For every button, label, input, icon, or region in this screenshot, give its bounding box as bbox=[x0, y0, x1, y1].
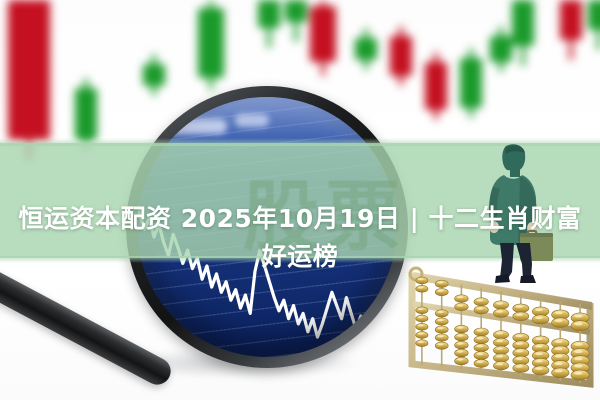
abacus-bead bbox=[493, 346, 508, 354]
candlestick-body bbox=[588, 0, 600, 30]
abacus-bead bbox=[474, 328, 488, 336]
abacus-bead bbox=[416, 323, 428, 330]
candlestick-body bbox=[198, 8, 224, 78]
headline-line-1: 恒运资本配资 2025年10月19日 | 十二生肖财富 bbox=[19, 204, 582, 233]
abacus-bead bbox=[571, 321, 589, 331]
headline: 恒运资本配资 2025年10月19日 | 十二生肖财富 好运榜 bbox=[0, 162, 600, 314]
candlestick-body bbox=[460, 58, 482, 108]
candlestick-body bbox=[425, 62, 447, 110]
headline-line-2: 好运榜 bbox=[0, 238, 600, 276]
candlestick-body bbox=[512, 0, 534, 46]
abacus-bead bbox=[455, 333, 469, 341]
candlestick-body bbox=[490, 36, 512, 62]
abacus-bead bbox=[435, 342, 448, 349]
abacus-bead bbox=[435, 334, 448, 341]
abacus-bead bbox=[435, 326, 448, 333]
candlestick-body bbox=[310, 6, 336, 62]
abacus-bead bbox=[493, 331, 508, 339]
abacus-bead bbox=[416, 340, 428, 347]
abacus-bead bbox=[493, 362, 508, 370]
abacus-bead bbox=[455, 325, 469, 333]
abacus-bead bbox=[571, 370, 589, 380]
banner-image: 股票 bbox=[0, 0, 600, 400]
abacus-bead bbox=[455, 349, 469, 357]
abacus-bead bbox=[416, 332, 428, 339]
abacus-bead bbox=[474, 352, 488, 360]
abacus-bead bbox=[532, 366, 549, 375]
abacus-bead bbox=[513, 364, 529, 373]
abacus-bead bbox=[532, 315, 549, 324]
abacus-bead bbox=[474, 359, 488, 367]
candlestick-body bbox=[285, 0, 307, 22]
abacus-bead bbox=[493, 338, 508, 346]
abacus-bead bbox=[493, 354, 508, 362]
abacus-bead bbox=[455, 341, 469, 349]
candlestick-body bbox=[355, 38, 377, 60]
abacus-bead bbox=[474, 336, 488, 344]
candlestick-body bbox=[390, 36, 412, 76]
candlestick-body bbox=[258, 0, 280, 28]
abacus-bead bbox=[435, 318, 448, 325]
abacus-bead bbox=[416, 315, 428, 322]
abacus-bead bbox=[552, 318, 569, 328]
abacus-bead bbox=[474, 344, 488, 352]
abacus-bead bbox=[552, 368, 569, 378]
abacus-bead bbox=[455, 357, 469, 365]
candlestick-body bbox=[560, 0, 582, 40]
